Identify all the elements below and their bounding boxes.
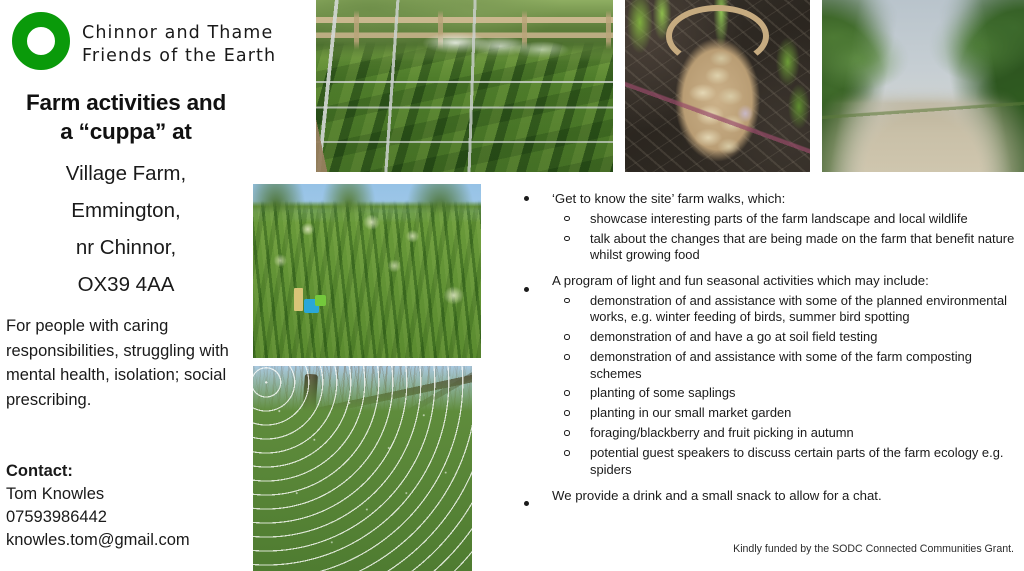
- brand-name-line-1: Chinnor and Thame: [82, 22, 276, 45]
- allotment-beds-photo: [316, 0, 613, 172]
- sub-list-item: showcase interesting parts of the farm l…: [552, 211, 1024, 227]
- brand-name: Chinnor and Thame Friends of the Earth: [82, 22, 276, 68]
- sub-bullet-text: foraging/blackberry and fruit picking in…: [590, 425, 854, 440]
- address-line-1: Village Farm,: [2, 155, 250, 192]
- garlic-bulb: [625, 0, 810, 172]
- contact-label: Contact:: [6, 460, 246, 483]
- sub-list-item: demonstration of and assistance with som…: [552, 293, 1024, 326]
- crop-field-photo: [253, 184, 481, 358]
- white-wildflower-meadow: [253, 366, 472, 571]
- hollow-bullet-icon: [564, 430, 570, 436]
- contact-block: Contact: Tom Knowles 07593986442 knowles…: [6, 460, 246, 552]
- hollow-bullet-icon: [564, 390, 570, 396]
- hollow-bullet-icon: [564, 236, 570, 242]
- left-info-column: Chinnor and Thame Friends of the Earth F…: [0, 0, 252, 571]
- sub-bullet-list: showcase interesting parts of the farm l…: [552, 211, 1024, 264]
- green-ring-logo-icon: [12, 12, 70, 70]
- sub-bullet-text: potential guest speakers to discuss cert…: [590, 445, 1003, 476]
- hollow-bullet-icon: [564, 298, 570, 304]
- sub-list-item: planting of some saplings: [552, 385, 1024, 401]
- hollow-bullet-icon: [564, 354, 570, 360]
- bullet-text: We provide a drink and a small snack to …: [552, 488, 882, 503]
- filled-bullet-icon: [524, 287, 529, 292]
- page-title-line-2: a “cuppa” at: [2, 117, 250, 146]
- list-item: ‘Get to know the site’ farm walks, which…: [514, 190, 1024, 263]
- hollow-bullet-icon: [564, 410, 570, 416]
- filled-bullet-icon: [524, 501, 529, 506]
- audience-description: For people with caring responsibilities,…: [6, 314, 244, 412]
- sub-bullet-list: demonstration of and assistance with som…: [552, 293, 1024, 478]
- brand-header: Chinnor and Thame Friends of the Earth: [6, 6, 316, 78]
- list-item: A program of light and fun seasonal acti…: [514, 272, 1024, 478]
- hollow-bullet-icon: [564, 334, 570, 340]
- bullet-text: ‘Get to know the site’ farm walks, which…: [552, 191, 785, 206]
- filled-bullet-icon: [524, 196, 529, 201]
- track-centre-grass: [822, 0, 1024, 172]
- potato-trug-photo: [625, 0, 810, 172]
- page-title: Farm activities and a “cuppa” at: [2, 88, 250, 146]
- sub-bullet-text: demonstration of and assistance with som…: [590, 349, 972, 380]
- sub-bullet-text: demonstration of and assistance with som…: [590, 293, 1007, 324]
- venue-address: Village Farm, Emmington, nr Chinnor, OX3…: [2, 155, 250, 303]
- contact-email: knowles.tom@gmail.com: [6, 529, 246, 552]
- sub-bullet-text: showcase interesting parts of the farm l…: [590, 211, 968, 226]
- sub-list-item: talk about the changes that are being ma…: [552, 231, 1024, 264]
- sub-list-item: potential guest speakers to discuss cert…: [552, 445, 1024, 478]
- activities-list: ‘Get to know the site’ farm walks, which…: [514, 190, 1024, 507]
- allotment-left-fence: [316, 0, 613, 172]
- hollow-bullet-icon: [564, 450, 570, 456]
- bullet-text: A program of light and fun seasonal acti…: [552, 273, 929, 288]
- contact-phone: 07593986442: [6, 506, 246, 529]
- sub-list-item: foraging/blackberry and fruit picking in…: [552, 425, 1024, 441]
- address-line-3: nr Chinnor,: [2, 229, 250, 266]
- sub-bullet-text: demonstration of and have a go at soil f…: [590, 329, 877, 344]
- hollow-bullet-icon: [564, 216, 570, 222]
- willow-tree-photo: [253, 366, 472, 571]
- sub-bullet-text: talk about the changes that are being ma…: [590, 231, 1014, 262]
- sub-bullet-text: planting of some saplings: [590, 385, 735, 400]
- sub-bullet-text: planting in our small market garden: [590, 405, 791, 420]
- sub-list-item: demonstration of and have a go at soil f…: [552, 329, 1024, 345]
- activity-bullet-list: ‘Get to know the site’ farm walks, which…: [514, 190, 1024, 505]
- sub-list-item: planting in our small market garden: [552, 405, 1024, 421]
- page-title-line-1: Farm activities and: [2, 88, 250, 117]
- address-postcode: OX39 4AA: [2, 266, 250, 303]
- sub-list-item: demonstration of and assistance with som…: [552, 349, 1024, 382]
- contact-name: Tom Knowles: [6, 483, 246, 506]
- funding-note: Kindly funded by the SODC Connected Comm…: [733, 542, 1014, 556]
- field-marker-post: [294, 288, 303, 311]
- field-green-equipment: [315, 295, 326, 305]
- address-line-2: Emmington,: [2, 192, 250, 229]
- list-item: We provide a drink and a small snack to …: [514, 487, 1024, 505]
- farm-track-photo: [822, 0, 1024, 172]
- field-wildflowers: [253, 184, 481, 358]
- brand-name-line-2: Friends of the Earth: [82, 45, 276, 68]
